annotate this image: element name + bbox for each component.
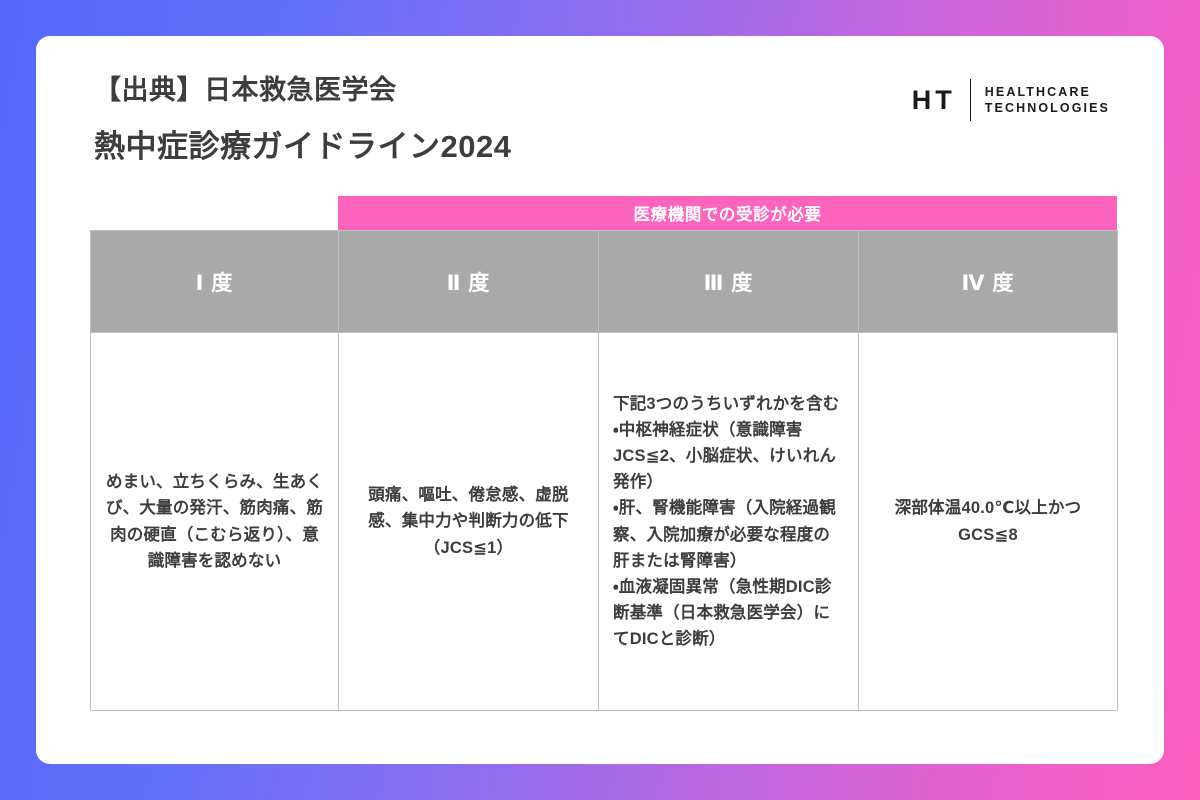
cell-grade-4-text: 深部体温40.0℃以上かつGCS≦8 (873, 495, 1103, 547)
page-title: 熱中症診療ガイドライン2024 (94, 128, 1106, 167)
medical-attention-banner: 医療機関での受診が必要 (338, 196, 1117, 230)
brand-logo: HT HEALTHCARE TECHNOLOGIES (912, 79, 1110, 121)
logo-wordmark: HEALTHCARE TECHNOLOGIES (985, 86, 1110, 115)
cell-grade-1-symptoms: めまい、立ちくらみ、生あくび、大量の発汗、筋肉痛、筋肉の硬直（こむら返り）、意識… (91, 333, 339, 711)
heatstroke-severity-table: Ⅰ 度 Ⅱ 度 Ⅲ 度 Ⅳ 度 めまい、立ちくらみ、生あくび、大量の発汗、筋肉痛… (90, 230, 1118, 711)
logo-word-line-2: TECHNOLOGIES (985, 102, 1110, 115)
content-card: 【出典】日本救急医学会 熱中症診療ガイドライン2024 HT HEALTHCAR… (36, 36, 1164, 764)
table-row: めまい、立ちくらみ、生あくび、大量の発汗、筋肉痛、筋肉の硬直（こむら返り）、意識… (91, 333, 1118, 711)
column-header-grade-3: Ⅲ 度 (599, 231, 859, 333)
cell-grade-3-symptoms: 下記3つのうちいずれかを含む ・中枢神経症状（意識障害JCS≦2、小脳症状、けい… (599, 333, 859, 711)
column-header-grade-1: Ⅰ 度 (91, 231, 339, 333)
cell-grade-1-text: めまい、立ちくらみ、生あくび、大量の発汗、筋肉痛、筋肉の硬直（こむら返り）、意識… (105, 469, 324, 573)
column-header-grade-4: Ⅳ 度 (859, 231, 1118, 333)
cell-grade-2-symptoms: 頭痛、嘔吐、倦怠感、虚脱感、集中力や判断力の低下 （JCS≦1） (339, 333, 599, 711)
logo-divider (970, 79, 971, 121)
table-header-row: Ⅰ 度 Ⅱ 度 Ⅲ 度 Ⅳ 度 (91, 231, 1118, 333)
logo-monogram: HT (912, 85, 956, 116)
medical-attention-banner-label: 医療機関での受診が必要 (633, 201, 821, 225)
severity-table-container: 医療機関での受診が必要 Ⅰ 度 Ⅱ 度 Ⅲ 度 Ⅳ 度 めまい、立ちくらみ、生あ… (90, 196, 1117, 711)
column-header-grade-2: Ⅱ 度 (339, 231, 599, 333)
cell-grade-4-symptoms: 深部体温40.0℃以上かつGCS≦8 (859, 333, 1118, 711)
cell-grade-2-text: 頭痛、嘔吐、倦怠感、虚脱感、集中力や判断力の低下 （JCS≦1） (353, 482, 584, 560)
logo-word-line-1: HEALTHCARE (985, 86, 1110, 99)
cell-grade-3-text: 下記3つのうちいずれかを含む ・中枢神経症状（意識障害JCS≦2、小脳症状、けい… (613, 391, 844, 652)
